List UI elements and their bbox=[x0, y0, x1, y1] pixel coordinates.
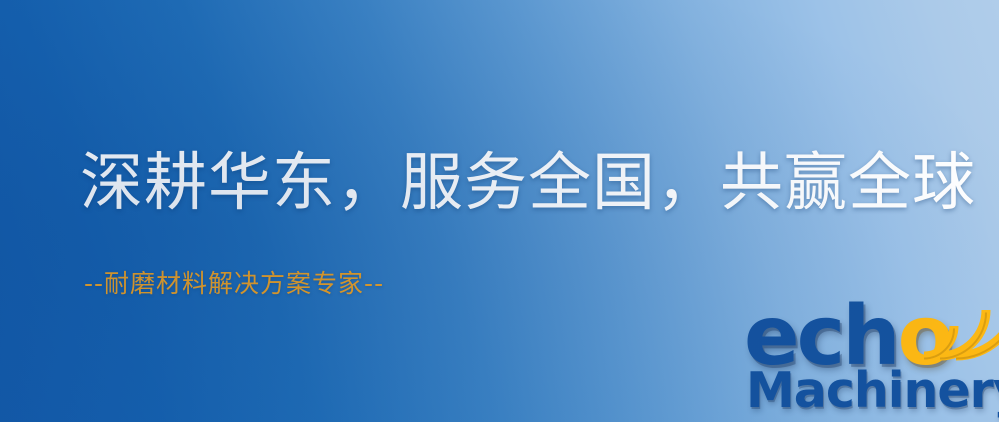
echo-machinery-logo[interactable]: echo Machinery® bbox=[744, 296, 999, 422]
logo-tagline-text: Machinery bbox=[746, 362, 999, 419]
hero-banner: 深耕华东，服务全国，共赢全球 --耐磨材料解决方案专家-- echo Machi… bbox=[0, 0, 999, 422]
signal-waves-icon bbox=[920, 290, 999, 362]
banner-headline: 深耕华东，服务全国，共赢全球 bbox=[80, 150, 976, 216]
banner-subheadline: --耐磨材料解决方案专家-- bbox=[84, 264, 384, 300]
logo-tagline: Machinery® bbox=[746, 366, 999, 417]
